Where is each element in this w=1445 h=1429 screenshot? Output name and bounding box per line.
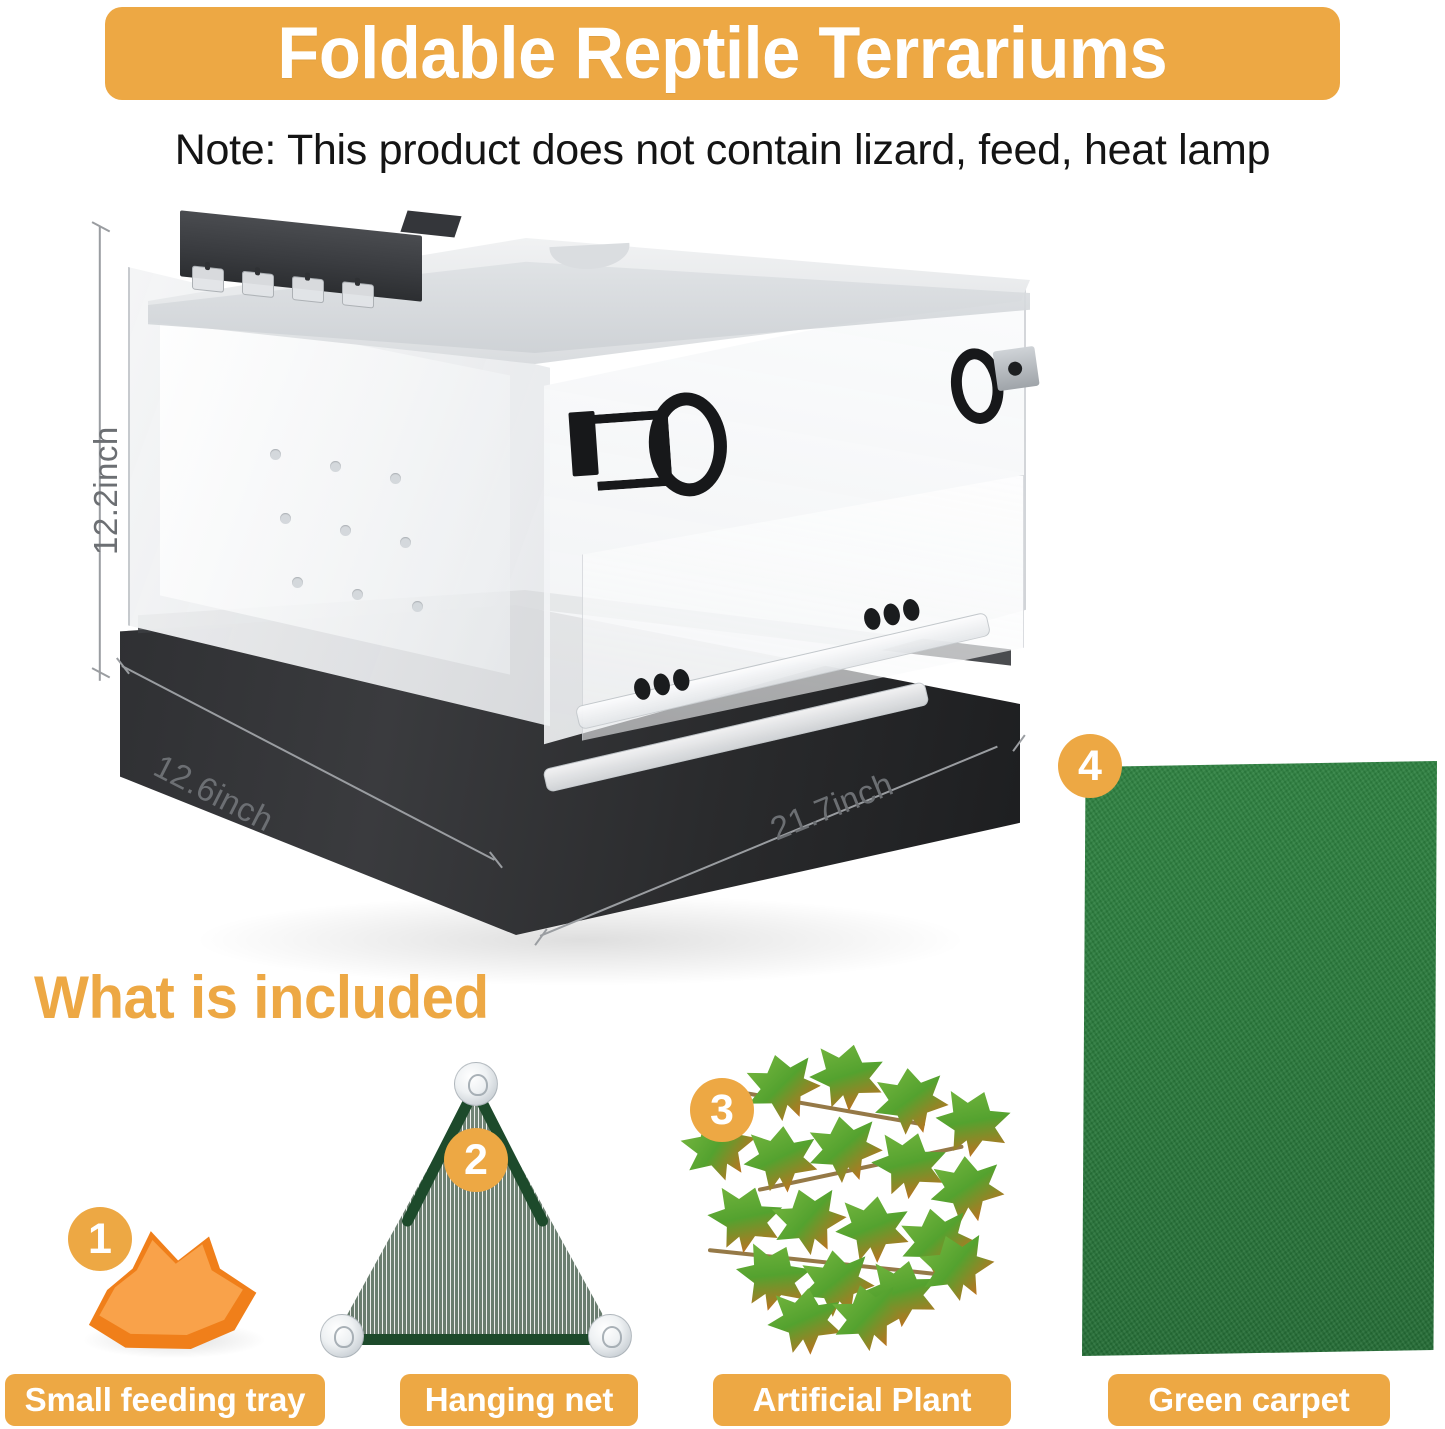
accessory-green-carpet	[1082, 761, 1437, 1356]
terrarium-side-latch	[946, 338, 1052, 413]
caption-hanging-net: Hanging net	[400, 1374, 638, 1426]
badge-2: 2	[444, 1128, 508, 1192]
badge-3: 3	[690, 1078, 754, 1142]
dimension-tick-height-top	[92, 222, 110, 233]
suction-cup-top	[454, 1062, 498, 1106]
product-note: Note: This product does not contain liza…	[0, 126, 1445, 175]
caption-artificial-plant: Artificial Plant	[713, 1374, 1011, 1426]
infographic-page: Foldable Reptile Terrariums Note: This p…	[0, 0, 1445, 1429]
product-image: 12.2inch 12.6inch 21.7inch	[0, 195, 1060, 955]
accessory-hanging-net	[330, 1078, 620, 1346]
caption-small-feeding-tray: Small feeding tray	[5, 1374, 325, 1426]
included-heading: What is included	[34, 963, 489, 1032]
suction-cup-left	[320, 1314, 364, 1358]
page-title: Foldable Reptile Terrariums	[278, 17, 1168, 90]
dimension-tick-height-bottom	[92, 668, 110, 679]
terrarium-vent-holes	[270, 435, 570, 635]
badge-4: 4	[1058, 734, 1122, 798]
badge-1: 1	[68, 1207, 132, 1271]
terrarium-front-latch	[567, 380, 733, 487]
caption-green-carpet: Green carpet	[1108, 1374, 1390, 1426]
suction-cup-right	[588, 1314, 632, 1358]
title-banner: Foldable Reptile Terrariums	[105, 7, 1340, 100]
dimension-label-height: 12.2inch	[87, 426, 125, 555]
